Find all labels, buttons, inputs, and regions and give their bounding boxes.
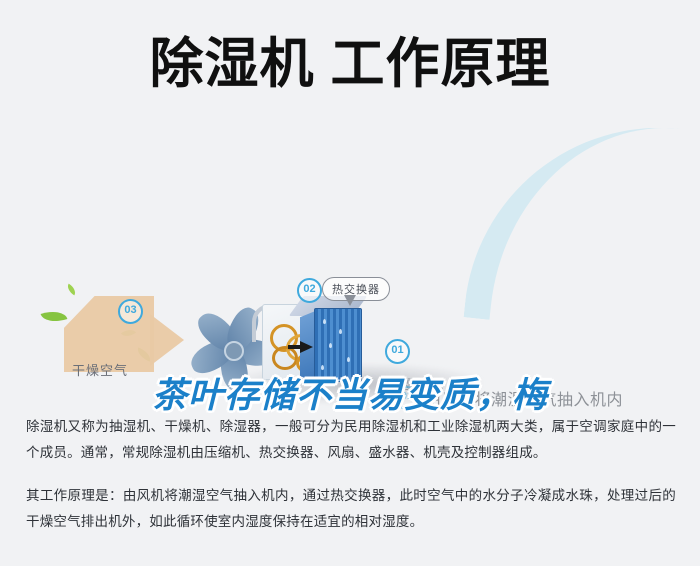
diagram-badge-01: 01 <box>385 339 410 364</box>
diagram-badge-02: 02 <box>297 278 322 303</box>
water-droplet-icon <box>321 365 324 370</box>
step-badge-01: 01 <box>395 386 419 410</box>
page-root: 除湿机 工作原理 干燥空气 <box>0 0 700 566</box>
page-title: 除湿机 工作原理 <box>0 33 700 95</box>
leaf-icon <box>65 284 78 296</box>
water-droplet-icon <box>339 329 342 334</box>
header-banner: 除湿机 工作原理 <box>0 0 700 128</box>
water-droplet-icon <box>323 319 326 324</box>
heat-exchanger-fins <box>314 308 362 382</box>
dry-air-arrow-tip <box>150 314 184 366</box>
dehumidifier-diagram: 干燥空气 水箱 <box>0 128 700 413</box>
dry-air-label: 干燥空气 <box>72 360 128 379</box>
callout-pointer <box>344 295 356 306</box>
fan-hub <box>224 341 244 361</box>
body-paragraph-1: 除湿机又称为抽湿机、干燥机、除湿器，一般可分为民用除湿机和工业除湿机两大类，属于… <box>26 414 676 466</box>
water-droplet-icon <box>347 357 350 362</box>
step-list: 01 由风机将潮湿空气抽入机内 02 潮湿空气经过蒸发器冷凝成水珠 03 从上部… <box>395 383 695 413</box>
diagram-badge-03: 03 <box>118 299 143 324</box>
airflow-arrow-icon <box>300 341 313 353</box>
body-paragraph-2: 其工作原理是：由风机将潮湿空气抽入机内，通过热交换器，此时空气中的水分子冷凝成水… <box>26 483 676 535</box>
step-text-01: 由风机将潮湿空气抽入机内 <box>425 386 623 410</box>
step-item-01: 01 由风机将潮湿空气抽入机内 <box>395 383 695 413</box>
leaf-icon <box>41 307 68 327</box>
water-droplet-icon <box>329 343 332 348</box>
heat-exchanger-callout: 热交换器 <box>322 277 390 301</box>
compressor-coil <box>272 346 298 370</box>
article-body: 除湿机又称为抽湿机、干燥机、除湿器，一般可分为民用除湿机和工业除湿机两大类，属于… <box>26 414 676 535</box>
